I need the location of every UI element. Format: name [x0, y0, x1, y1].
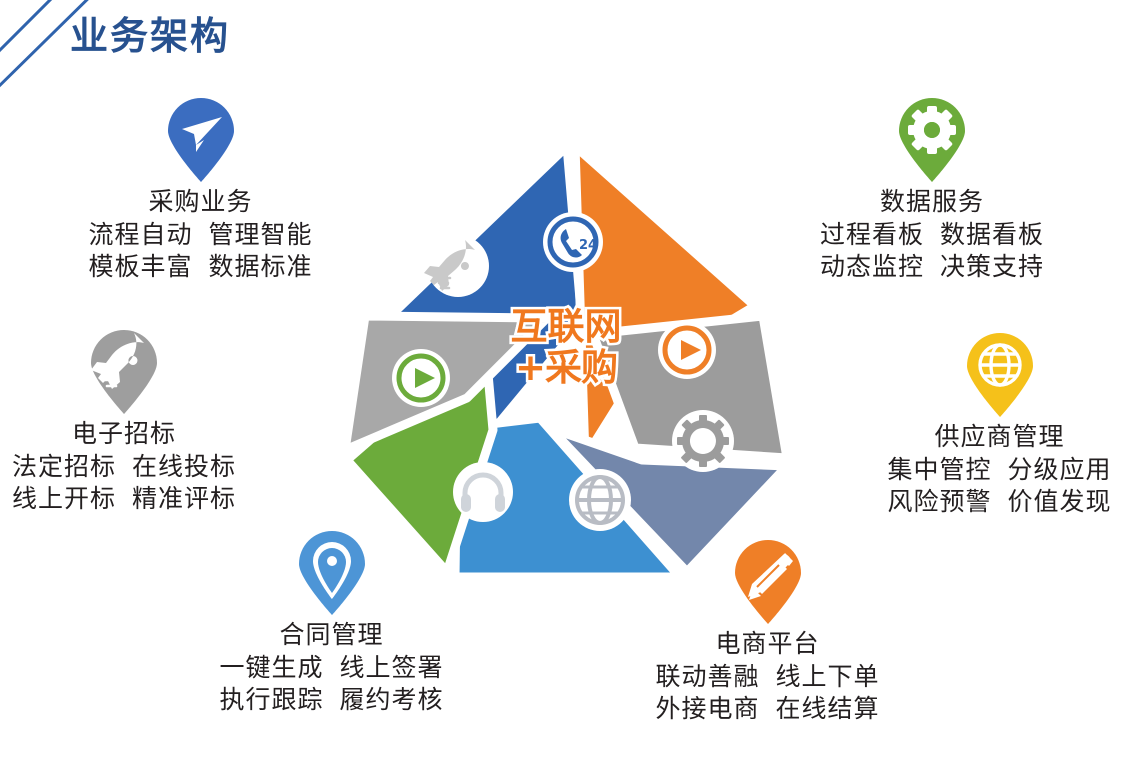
node-line-2: 风险预警价值发现 [872, 486, 1122, 519]
map-pin-icon [294, 531, 370, 615]
node-line-1: 过程看板数据看板 [811, 219, 1053, 252]
page-title: 业务架构 [70, 5, 230, 60]
node-line-1: 集中管控分级应用 [872, 454, 1122, 487]
node-line-2: 外接电商在线结算 [640, 693, 895, 726]
node-line-1: 流程自动管理智能 [78, 219, 323, 252]
node-line-2: 线上开标精准评标 [0, 483, 254, 516]
wheel-icon-play-right [658, 321, 716, 379]
node-line-1: 一键生成线上签署 [199, 652, 464, 685]
pencil-icon [730, 540, 806, 624]
svg-text:24: 24 [579, 238, 597, 253]
node-line-1: 法定招标在线投标 [0, 451, 254, 484]
central-pinwheel-diagram: 24 [335, 128, 795, 578]
paper-plane-icon [163, 98, 239, 182]
node-title: 采购业务 [78, 186, 323, 219]
node-bidding-text: 电子招标 法定招标在线投标 线上开标精准评标 [0, 418, 254, 516]
wheel-icon-play-left [392, 349, 450, 407]
node-line-2: 模板丰富数据标准 [78, 251, 323, 284]
node-ecommerce-text: 电商平台 联动善融线上下单 外接电商在线结算 [640, 628, 895, 726]
node-procurement-text: 采购业务 流程自动管理智能 模板丰富数据标准 [78, 186, 323, 284]
node-contract-text: 合同管理 一键生成线上签署 执行跟踪履约考核 [199, 619, 464, 717]
node-title: 电商平台 [640, 628, 895, 661]
node-supplier-text: 供应商管理 集中管控分级应用 风险预警价值发现 [872, 421, 1122, 519]
node-line-1: 联动善融线上下单 [640, 661, 895, 694]
globe-icon [962, 333, 1038, 417]
node-line-2: 执行跟踪履约考核 [199, 684, 464, 717]
node-data-text: 数据服务 过程看板数据看板 动态监控决策支持 [811, 186, 1053, 284]
wheel-icon-gear-right [672, 410, 734, 472]
wheel-icon-phone-24h: 24 [543, 212, 603, 272]
wheel-icon-globe-bottom [569, 469, 631, 531]
gear-icon [894, 98, 970, 182]
rocket-icon [86, 330, 162, 414]
node-title: 合同管理 [199, 619, 464, 652]
node-line-2: 动态监控决策支持 [811, 251, 1053, 284]
wheel-icon-headphones [453, 462, 513, 522]
slide-canvas: 业务架构 24 [0, 0, 1122, 757]
node-title: 电子招标 [0, 418, 254, 451]
node-title: 供应商管理 [872, 421, 1122, 454]
node-title: 数据服务 [811, 186, 1053, 219]
